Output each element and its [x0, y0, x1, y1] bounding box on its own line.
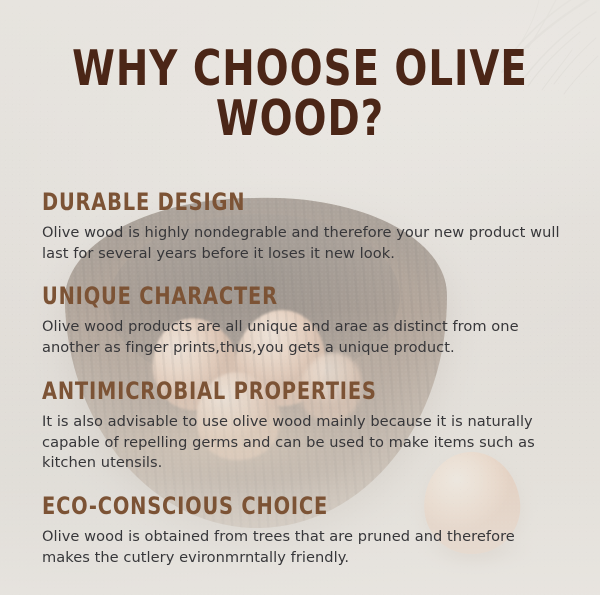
section-antimicrobial-properties: ANTIMICROBIAL PROPERTIES It is also advi… [34, 379, 566, 474]
section-heading: ECO-CONSCIOUS CHOICE [42, 494, 514, 518]
section-eco-conscious-choice: ECO-CONSCIOUS CHOICE Olive wood is obtai… [34, 494, 566, 568]
section-body: Olive wood is highly nondegrable and the… [42, 223, 566, 264]
section-body: Olive wood is obtained from trees that a… [42, 527, 566, 568]
section-body: It is also advisable to use olive wood m… [42, 412, 566, 474]
section-heading: ANTIMICROBIAL PROPERTIES [42, 379, 514, 403]
page-title: WHY CHOOSE OLIVE WOOD? [66, 0, 534, 144]
section-heading: DURABLE DESIGN [42, 190, 514, 214]
poster-canvas: WHY CHOOSE OLIVE WOOD? DURABLE DESIGN Ol… [0, 0, 600, 595]
poster-content: WHY CHOOSE OLIVE WOOD? DURABLE DESIGN Ol… [0, 0, 600, 568]
section-unique-character: UNIQUE CHARACTER Olive wood products are… [34, 284, 566, 358]
section-body: Olive wood products are all unique and a… [42, 317, 566, 358]
section-heading: UNIQUE CHARACTER [42, 284, 514, 308]
section-durable-design: DURABLE DESIGN Olive wood is highly nond… [34, 190, 566, 264]
